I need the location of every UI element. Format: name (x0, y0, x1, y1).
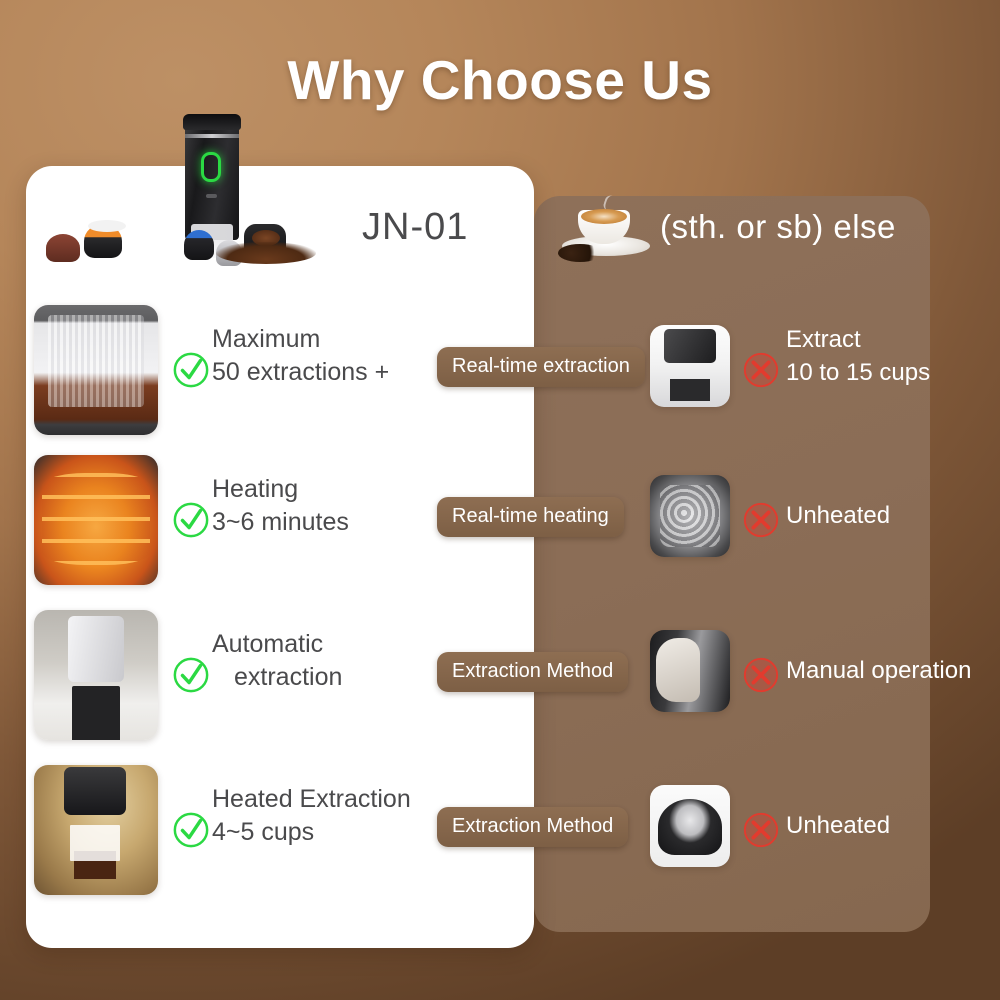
check-mark-icon (172, 351, 210, 389)
check-icon (172, 351, 210, 389)
competitor-feature-text: Unheated (786, 797, 890, 842)
competitor-feature-line1: Unheated (786, 809, 890, 842)
product-feature-text: Maximum 50 extractions + (212, 323, 389, 389)
comparison-row: Heating 3~6 minutes Real-time heating Un… (0, 455, 1000, 605)
competitor-thumbnail (650, 475, 730, 557)
product-feature-text: Automatic extraction (212, 628, 342, 694)
product-feature-text: Heated Extraction 4~5 cups (212, 783, 411, 849)
product-feature-line2: extraction (212, 661, 342, 694)
product-feature-line2: 50 extractions + (212, 356, 389, 389)
product-model-label: JN-01 (362, 206, 468, 249)
competitor-thumbnail (650, 325, 730, 407)
competitor-feature-line1: Unheated (786, 499, 890, 532)
product-thumbnail (34, 305, 158, 435)
competitor-thumbnail (650, 630, 730, 712)
competitor-feature-line1: Manual operation (786, 654, 971, 687)
product-thumbnail (34, 455, 158, 585)
competitor-header-label: (sth. or sb) else (660, 208, 896, 246)
feature-category-label: Extraction Method (437, 807, 628, 847)
product-feature-text: Heating 3~6 minutes (212, 473, 349, 539)
power-led-icon (201, 152, 221, 182)
product-header: JN-01 (26, 100, 534, 270)
competitor-header: (sth. or sb) else (548, 196, 948, 276)
competitor-feature-line1: Extract (786, 323, 930, 356)
cross-mark-icon (742, 811, 780, 849)
feature-category-label: Real-time heating (437, 497, 624, 537)
competitor-feature-text: Manual operation (786, 642, 971, 687)
cross-icon (742, 351, 780, 389)
cross-icon (742, 501, 780, 539)
check-icon (172, 811, 210, 849)
comparison-row: Heated Extraction 4~5 cups Extraction Me… (0, 765, 1000, 915)
competitor-feature-line2: 10 to 15 cups (786, 356, 930, 389)
check-mark-icon (172, 656, 210, 694)
feature-category-label: Extraction Method (437, 652, 628, 692)
check-icon (172, 501, 210, 539)
competitor-feature-text: Unheated (786, 487, 890, 532)
cross-mark-icon (742, 501, 780, 539)
product-feature-line1: Heated Extraction (212, 783, 411, 816)
product-feature-line1: Heating (212, 473, 349, 506)
cross-mark-icon (742, 656, 780, 694)
check-icon (172, 656, 210, 694)
cross-mark-icon (742, 351, 780, 389)
check-mark-icon (172, 501, 210, 539)
competitor-feature-text: Extract 10 to 15 cups (786, 323, 930, 389)
competitor-thumbnail (650, 785, 730, 867)
product-feature-line1: Automatic (212, 628, 342, 661)
check-mark-icon (172, 811, 210, 849)
product-thumbnail (34, 610, 158, 740)
comparison-row: Automatic extraction Extraction Method M… (0, 610, 1000, 760)
feature-category-label: Real-time extraction (437, 347, 645, 387)
coffee-grounds-icon (216, 242, 316, 264)
product-feature-line2: 3~6 minutes (212, 506, 349, 539)
cross-icon (742, 656, 780, 694)
product-feature-line1: Maximum (212, 323, 389, 356)
product-feature-line2: 4~5 cups (212, 816, 411, 849)
coffee-cup-icon (558, 200, 654, 262)
product-thumbnail (34, 765, 158, 895)
cross-icon (742, 811, 780, 849)
comparison-row: Maximum 50 extractions + Real-time extra… (0, 305, 1000, 455)
